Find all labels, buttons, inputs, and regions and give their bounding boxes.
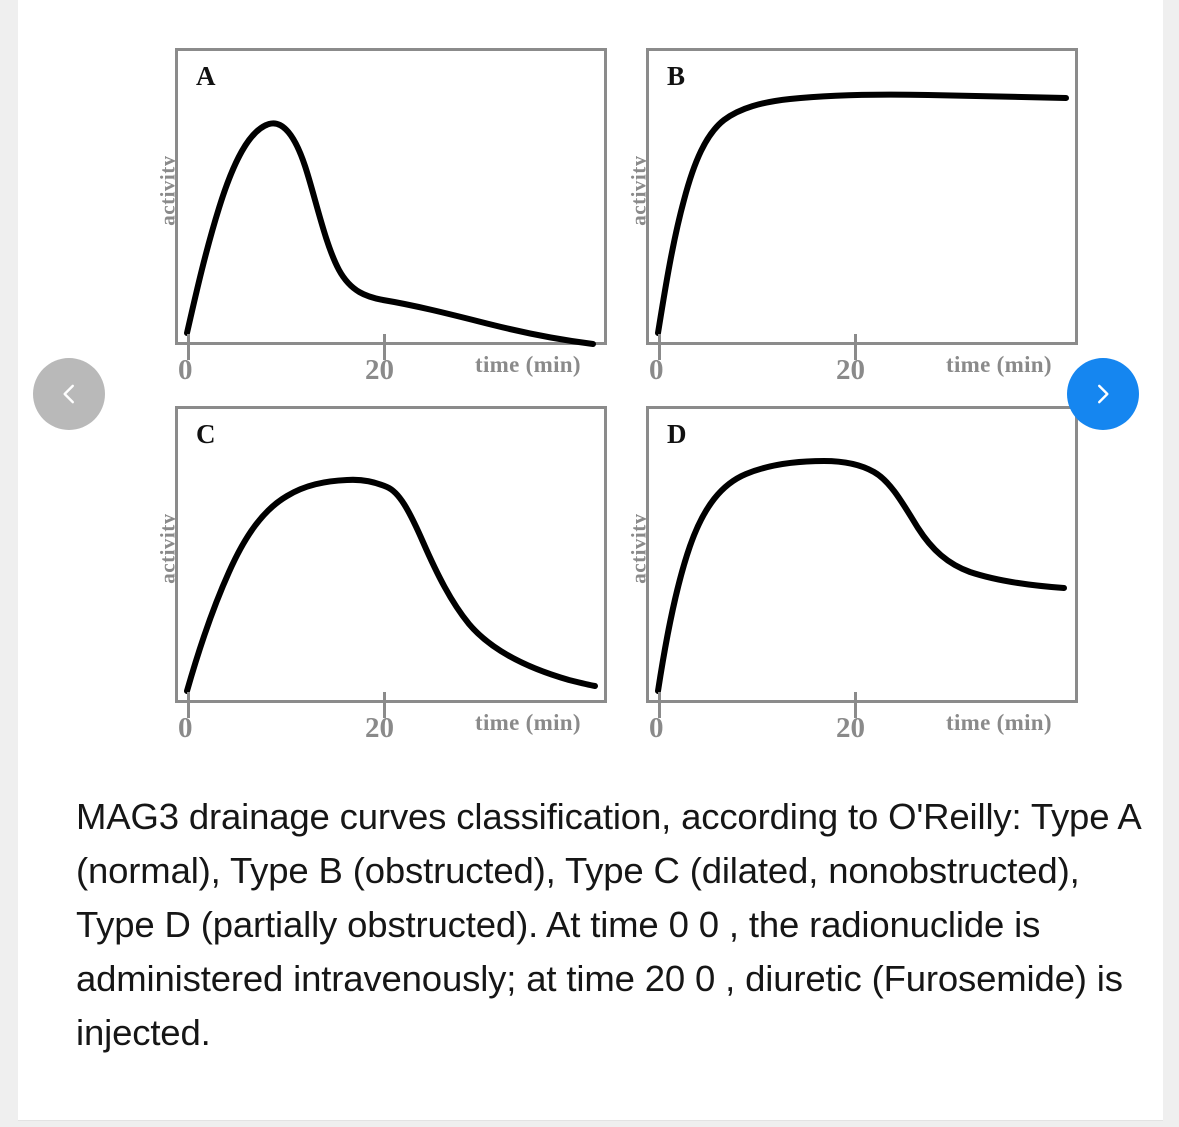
carousel-prev-button[interactable] bbox=[33, 358, 105, 430]
x-tick-label-20-b: 20 bbox=[836, 354, 865, 387]
chart-panel-d: activity D 0 20 time (min) bbox=[628, 406, 1078, 706]
curve-a bbox=[157, 48, 607, 348]
figure-card: activity A 0 20 time (min) activity B bbox=[18, 0, 1163, 1121]
figure-caption: MAG3 drainage curves classification, acc… bbox=[76, 790, 1151, 1060]
x-tick-label-20-d: 20 bbox=[836, 712, 865, 745]
chart-panel-c: activity C 0 20 time (min) bbox=[157, 406, 607, 706]
curve-d bbox=[628, 406, 1078, 706]
curve-b bbox=[628, 48, 1078, 348]
x-tick-label-20-a: 20 bbox=[365, 354, 394, 387]
x-tick-label-0-b: 0 bbox=[649, 354, 664, 387]
x-axis-label-b: time (min) bbox=[946, 352, 1052, 378]
figure-image: activity A 0 20 time (min) activity B bbox=[18, 0, 1163, 775]
card-bottom-divider bbox=[18, 1120, 1163, 1121]
curve-c bbox=[157, 406, 607, 706]
image-viewer: activity A 0 20 time (min) activity B bbox=[0, 0, 1179, 1127]
x-axis-label-c: time (min) bbox=[475, 710, 581, 736]
x-tick-label-0-c: 0 bbox=[178, 712, 193, 745]
chevron-right-icon bbox=[1090, 381, 1116, 407]
x-axis-label-a: time (min) bbox=[475, 352, 581, 378]
x-tick-label-0-a: 0 bbox=[178, 354, 193, 387]
x-tick-label-20-c: 20 bbox=[365, 712, 394, 745]
chevron-left-icon bbox=[56, 381, 82, 407]
x-axis-label-d: time (min) bbox=[946, 710, 1052, 736]
x-tick-label-0-d: 0 bbox=[649, 712, 664, 745]
chart-panel-a: activity A 0 20 time (min) bbox=[157, 48, 607, 348]
carousel-next-button[interactable] bbox=[1067, 358, 1139, 430]
chart-panel-b: activity B 0 20 time (min) bbox=[628, 48, 1078, 348]
